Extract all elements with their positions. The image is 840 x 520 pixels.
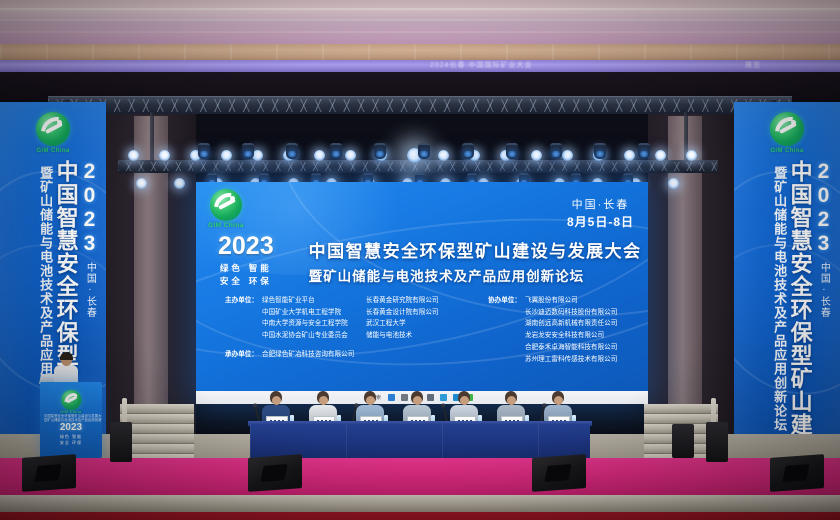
event-slogan: 绿色 智能 安全 环保 [220, 262, 272, 287]
main-led-screen: GIM China 中国·长春 8月5日-8日 2023 绿色 智能 安全 环保… [196, 182, 648, 404]
right-banner-title-sub: 暨矿山储能与电池技术及产品应用创新论坛 [773, 166, 786, 432]
spot-light [159, 150, 170, 161]
ceiling [0, 0, 840, 46]
year-block: 2023 绿色 智能 安全 环保 [218, 234, 283, 287]
host-item: 长春黄金设计院有限公司 [366, 307, 439, 319]
right-vertical-banner: GIM China 2023 中国·长春 中国智慧安全环保型矿山建设与发展大会 … [734, 102, 840, 474]
host-item: 中国水泥协会矿山专业委员会 [258, 330, 366, 342]
coorganizer-label-spacer [473, 354, 521, 366]
host-item: 武汉工程大学 [366, 318, 406, 330]
spot-light [314, 150, 325, 161]
right-banner-text-block: 2023 中国·长春 中国智慧安全环保型矿山建设与发展大会 暨矿山储能与电池技术… [773, 160, 834, 470]
podium-slogan: 绿色 智能 安全 环保 [40, 434, 102, 446]
right-banner-logo: GIM China [734, 112, 840, 154]
moving-head-light [330, 143, 342, 159]
moving-head-light [198, 143, 210, 159]
slogan-line-2: 安全 环保 [220, 275, 272, 287]
spot-light [624, 150, 635, 161]
upper-truss [48, 96, 792, 114]
panelist-face [366, 396, 375, 405]
stage-monitor [770, 454, 824, 492]
podium-logo: GIM China [60, 390, 81, 415]
host-label: 主办单位： [210, 295, 258, 307]
coorganizer-item: 飞翼股份有限公司 [521, 295, 578, 307]
gim-logo-mark [210, 189, 242, 221]
undertaker-item: 合肥绿色矿冶科技咨询有限公司 [258, 349, 354, 361]
spot-light [668, 178, 679, 189]
side-speaker-stack [672, 424, 694, 458]
coorganizers: 协办单位： 飞翼股份有限公司 长沙迪迈数码科技股份有限公司 湖南创远高新机械有限… [465, 295, 617, 365]
coorganizer-label-spacer [473, 307, 521, 319]
moving-head-light [506, 143, 518, 159]
host-item: 中国矿业大学机电工程学院 [258, 307, 366, 319]
host-label-spacer [210, 307, 258, 319]
front-ledge-left [0, 495, 560, 512]
panelist-face [272, 396, 281, 405]
spot-light [531, 150, 542, 161]
host-item: 中南大学资源与安全工程学院 [258, 318, 366, 330]
right-banner-title-main: 中国智慧安全环保型矿山建设与发展大会 [788, 160, 810, 474]
stage-monitor [532, 454, 586, 492]
host-label-spacer [210, 318, 258, 330]
moving-head-light [418, 143, 430, 159]
panelist-face [319, 396, 328, 405]
spot-light [136, 178, 147, 189]
coorganizer-item: 龙岩龙安安全科技有限公司 [521, 330, 604, 342]
coorganizer-item: 合肥泰禾卓海智能科技有限公司 [521, 342, 617, 354]
side-speaker-stack [706, 422, 728, 462]
led-screen-logo: GIM China [208, 189, 244, 230]
gim-logo-mark [61, 390, 81, 410]
event-year: 2023 [218, 234, 274, 259]
spot-light [174, 178, 185, 189]
event-location: 中国·长春 [567, 198, 634, 214]
stage-monitor [22, 454, 76, 492]
left-banner-city: 中国·长春 [84, 262, 94, 318]
gim-logo-mark [36, 112, 70, 146]
coorganizer-item: 湖南创远高新机械有限责任公司 [521, 318, 617, 330]
panelist-face [460, 396, 469, 405]
host-organizers: 主办单位： 绿色智能矿业平台 长春黄金研究院有限公司 中国矿业大学机电工程学院 … [210, 295, 465, 365]
overhead-banner-text: 2024长春 中国国际矿业大会 [430, 60, 533, 70]
spot-light [221, 150, 232, 161]
gim-logo-mark [770, 112, 804, 146]
spot-light [562, 150, 573, 161]
podium-slogan-line-2: 安全 环保 [40, 440, 102, 446]
moving-head-light [550, 143, 562, 159]
conference-stage-photo: 2024长春 中国国际矿业大会 展览 GIM China [0, 0, 840, 520]
spot-light [128, 150, 139, 161]
stage-carpet [0, 458, 840, 498]
spot-light [655, 150, 666, 161]
podium-year: 2023 [40, 422, 102, 433]
screen-title-row: 2023 绿色 智能 安全 环保 中国智慧安全环保型矿山建设与发展大会 暨矿山储… [218, 234, 634, 287]
spot-light [345, 150, 356, 161]
coorganizer-item: 长沙迪迈数码科技股份有限公司 [521, 307, 617, 319]
moving-head-light [242, 143, 254, 159]
coorganizer-label-spacer [473, 318, 521, 330]
event-date-block: 中国·长春 8月5日-8日 [567, 198, 634, 231]
conference-title-sub: 暨矿山储能与电池技术及产品应用创新论坛 [309, 265, 642, 285]
left-banner-year: 2023 [79, 160, 100, 256]
panelist-face [413, 396, 422, 405]
right-banner-city: 中国·长春 [818, 262, 828, 318]
panelist-face [554, 396, 563, 405]
coorganizer-label-spacer [473, 330, 521, 342]
moving-head-light [462, 143, 474, 159]
organizer-block: 主办单位： 绿色智能矿业平台 长春黄金研究院有限公司 中国矿业大学机电工程学院 … [210, 295, 638, 365]
host-item: 绿色智能矿业平台 [258, 295, 366, 307]
stage-monitor [248, 454, 302, 492]
slogan-line-1: 绿色 智能 [220, 262, 272, 274]
left-banner-logo: GIM China [0, 112, 106, 154]
conference-title-main: 中国智慧安全环保型矿山建设与发展大会 [309, 237, 642, 262]
spot-light [438, 150, 449, 161]
coorganizer-item: 苏州理工雷科传感技术有限公司 [521, 354, 617, 366]
moving-head-light [374, 143, 386, 159]
host-item: 长春黄金研究院有限公司 [366, 295, 439, 307]
front-ledge-right [560, 495, 840, 512]
host-item: 储能与电池技术 [366, 330, 412, 342]
moving-head-light [594, 143, 606, 159]
podium: GIM China 中国智慧安全环保型矿山建设与发展大会 暨矿山储能与电池技术及… [40, 382, 102, 458]
spot-light [686, 150, 697, 161]
coorganizer-label: 协办单位： [473, 295, 521, 307]
event-dates: 8月5日-8日 [567, 214, 634, 231]
overhead-banner-text-right: 展览 [745, 60, 761, 70]
undertaker-label: 承办单位： [210, 349, 258, 361]
marble-wall-band [0, 44, 840, 61]
side-speaker-stack [110, 422, 132, 462]
moving-head-light [286, 143, 298, 159]
panelist-face [507, 396, 516, 405]
moving-head-light [638, 143, 650, 159]
right-banner-year: 2023 [813, 160, 834, 256]
coorganizer-label-spacer [473, 342, 521, 354]
host-label-spacer [210, 330, 258, 342]
overhead-banner: 2024长春 中国国际矿业大会 展览 [0, 60, 840, 72]
truss-drop-left [150, 112, 154, 162]
title-texts: 中国智慧安全环保型矿山建设与发展大会 暨矿山储能与电池技术及产品应用创新论坛 [301, 237, 642, 285]
